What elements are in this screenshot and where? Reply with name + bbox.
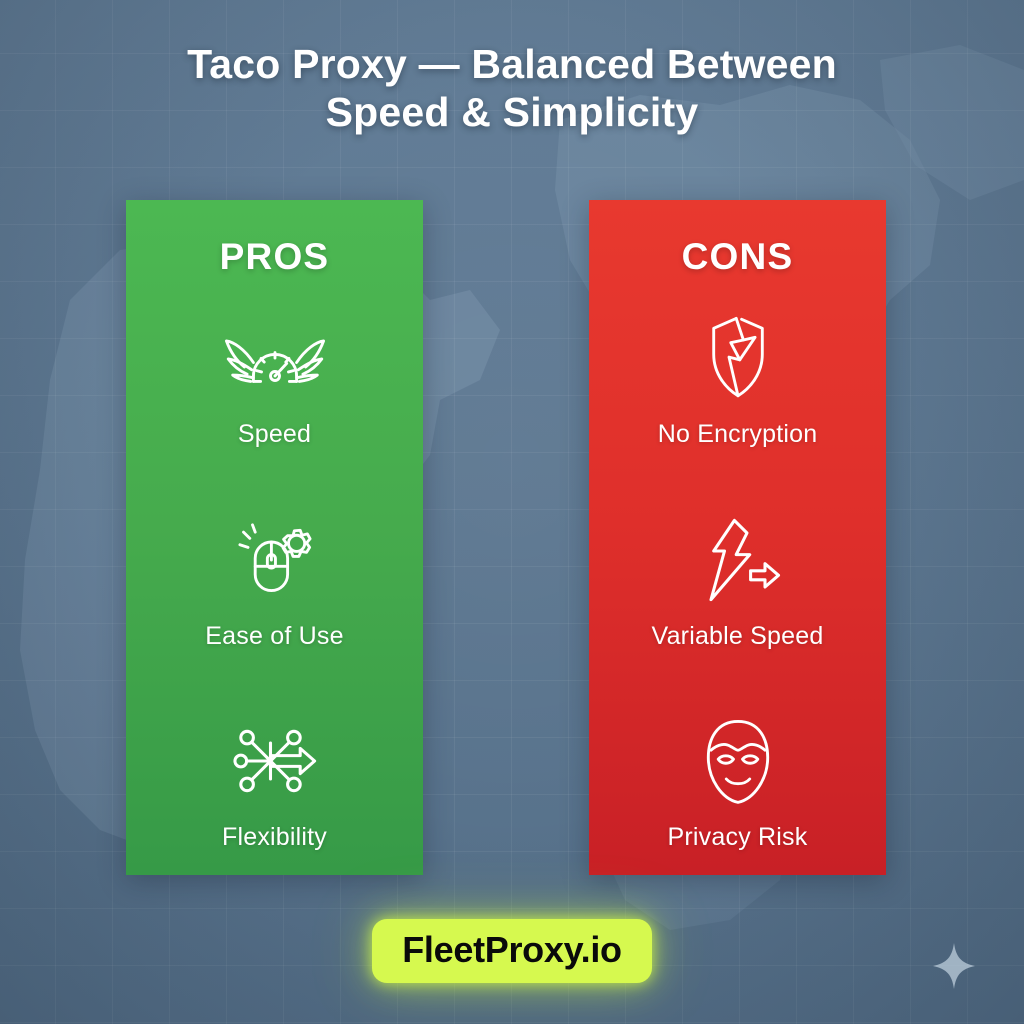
list-item-label: Flexibility bbox=[222, 823, 327, 852]
lightning-arrow-icon bbox=[678, 506, 798, 614]
list-item-label: No Encryption bbox=[658, 420, 818, 449]
four-point-sparkle-icon bbox=[933, 943, 975, 989]
pros-item-list: Speed Ease of Us bbox=[126, 304, 423, 864]
brand-badge-wrap: FleetProxy.io bbox=[0, 919, 1024, 983]
list-item-label: Speed bbox=[238, 420, 311, 449]
infographic-canvas: Taco Proxy — Balanced Between Speed & Si… bbox=[0, 0, 1024, 1024]
pros-panel-title: PROS bbox=[126, 236, 423, 278]
cons-panel-title: CONS bbox=[589, 236, 886, 278]
winged-speedometer-icon bbox=[215, 304, 335, 412]
page-title: Taco Proxy — Balanced Between Speed & Si… bbox=[0, 40, 1024, 137]
masked-face-icon bbox=[678, 707, 798, 815]
list-item: Ease of Use bbox=[126, 506, 423, 651]
network-hub-arrow-icon bbox=[215, 707, 335, 815]
list-item-label: Ease of Use bbox=[205, 622, 343, 651]
list-item: Variable Speed bbox=[589, 506, 886, 651]
pros-panel: PROS bbox=[126, 200, 423, 875]
list-item: Flexibility bbox=[126, 707, 423, 852]
list-item: No Encryption bbox=[589, 304, 886, 449]
list-item: Privacy Risk bbox=[589, 707, 886, 852]
cons-panel: CONS No Encryption bbox=[589, 200, 886, 875]
cons-item-list: No Encryption Variable Speed bbox=[589, 304, 886, 864]
broken-shield-bolt-icon bbox=[678, 304, 798, 412]
list-item: Speed bbox=[126, 304, 423, 449]
list-item-label: Variable Speed bbox=[652, 622, 824, 651]
brand-badge[interactable]: FleetProxy.io bbox=[372, 919, 652, 983]
list-item-label: Privacy Risk bbox=[668, 823, 808, 852]
mouse-gear-icon bbox=[215, 506, 335, 614]
